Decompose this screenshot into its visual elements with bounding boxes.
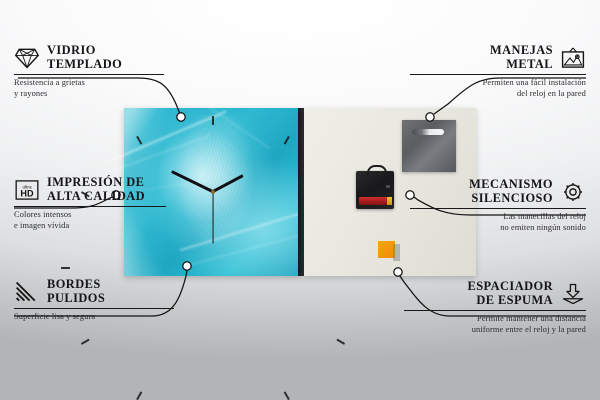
feature-subtitle: Permiten una fácil instalación del reloj… (410, 78, 586, 99)
feature-rule (410, 74, 586, 75)
feature-title: VIDRIO TEMPLADO (47, 44, 122, 71)
feature-rule (14, 308, 174, 309)
foam-spacer-icon (560, 282, 586, 306)
picture-hanger-icon (560, 46, 586, 70)
feature-title: MANEJAS METAL (490, 44, 553, 71)
metal-hanger-plate (402, 120, 456, 172)
feature-rule (14, 74, 164, 75)
feature-mecanismo-silencioso: MECANISMO SILENCIOSO Las manecillas del … (410, 178, 586, 233)
clock-pivot (211, 190, 215, 194)
quartz-movement-box (356, 171, 394, 209)
movement-detail (386, 185, 390, 188)
feature-rule (404, 310, 586, 311)
feature-rule (410, 208, 586, 209)
feature-subtitle: Colores intensos e imagen vívida (14, 210, 166, 231)
feature-bordes-pulidos: BORDES PULIDOS Superficie lisa y segura (14, 278, 174, 323)
infographic-canvas: VIDRIO TEMPLADO Resistencia a grietas y … (0, 0, 600, 400)
feature-subtitle: Las manecillas del reloj no emiten ningú… (410, 212, 586, 233)
feature-subtitle: Resistencia a grietas y rayones (14, 78, 164, 99)
ultra-hd-badge-icon: ultra HD (14, 178, 40, 202)
gear-icon (560, 180, 586, 204)
ultra-hd-badge-big: HD (20, 188, 34, 198)
feature-title: BORDES PULIDOS (47, 278, 105, 305)
feature-impresion-alta-calidad: ultra HD IMPRESIÓN DE ALTA CALIDAD Color… (14, 176, 166, 231)
feature-subtitle: Superficie lisa y segura (14, 312, 174, 322)
feature-title: IMPRESIÓN DE ALTA CALIDAD (47, 176, 145, 203)
feature-espaciador-de-espuma: ESPACIADOR DE ESPUMA Permite mantener un… (404, 280, 586, 335)
feature-title: ESPACIADOR DE ESPUMA (467, 280, 553, 307)
hanger-slot (412, 129, 444, 135)
feather-plume (170, 115, 266, 270)
diagonal-stripes-icon (14, 280, 40, 304)
foam-spacer-shadow (393, 244, 400, 261)
battery (359, 197, 391, 205)
feature-subtitle: Permite mantener una distancia uniforme … (404, 314, 586, 335)
diamond-icon (14, 46, 40, 70)
hanger-loop (367, 165, 387, 176)
foam-spacer (378, 241, 395, 258)
feature-manejas-metal: MANEJAS METAL Permiten una fácil instala… (410, 44, 586, 99)
feature-rule (14, 206, 166, 207)
second-hand (212, 192, 213, 244)
battery-terminal (387, 197, 392, 205)
feature-title: MECANISMO SILENCIOSO (469, 178, 553, 205)
feature-vidrio-templado: VIDRIO TEMPLADO Resistencia a grietas y … (14, 44, 164, 99)
